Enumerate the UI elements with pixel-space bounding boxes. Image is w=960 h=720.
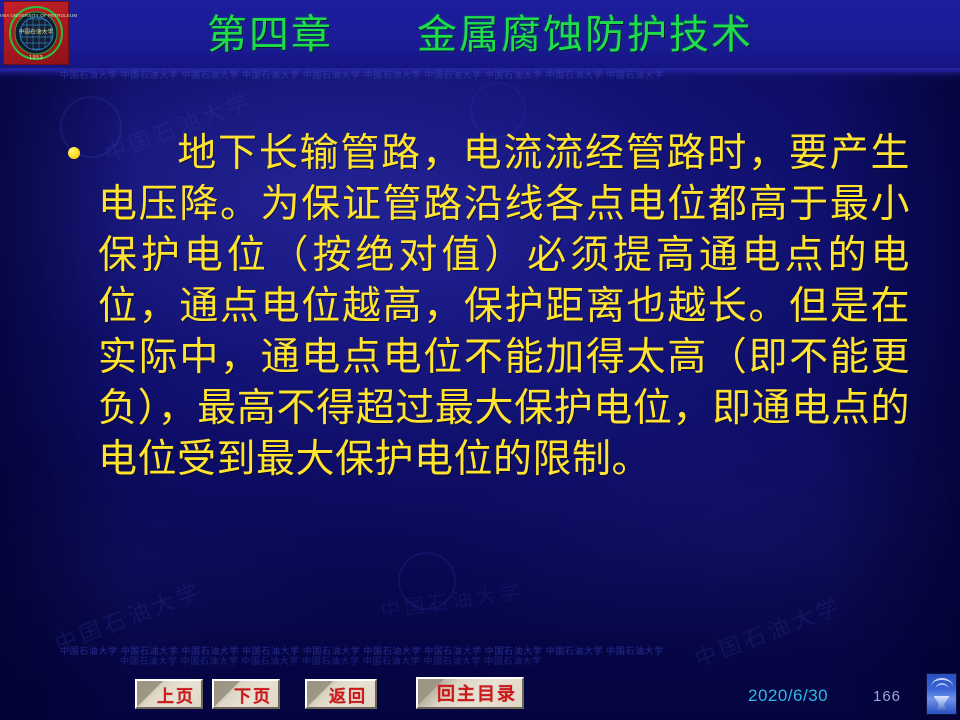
bullet-list-item: 地下长输管路，电流流经管路时，要产生电压降。为保证管路沿线各点电位都高于最小保护… (60, 128, 910, 485)
main-menu-label: 回主目录 (423, 680, 517, 706)
footer-page-number: 166 (873, 688, 901, 705)
fountain-basin (934, 696, 950, 710)
fountain-spray-inner (935, 683, 948, 695)
return-button[interactable]: 返回 (305, 679, 377, 709)
body-paragraph-wrapper: 地下长输管路，电流流经管路时，要产生电压降。为保证管路沿线各点电位都高于最小保护… (98, 128, 910, 485)
next-page-label: 下页 (220, 682, 272, 707)
prev-page-label: 上页 (143, 682, 195, 707)
prev-page-button[interactable]: 上页 (135, 679, 203, 709)
footer-date: 2020/6/30 (748, 686, 828, 706)
slide-title: 第四章 金属腐蚀防护技术 (0, 9, 960, 61)
body-paragraph: 地下长输管路，电流流经管路时，要产生电压降。为保证管路沿线各点电位都高于最小保护… (98, 132, 910, 481)
bullet-dot-icon (68, 147, 80, 159)
main-menu-button[interactable]: 回主目录 (416, 677, 524, 709)
next-page-button[interactable]: 下页 (212, 679, 280, 709)
return-label: 返回 (315, 682, 367, 707)
fountain-icon (926, 673, 957, 715)
watermark-strip-top: 中国石油大学 中国石油大学 中国石油大学 中国石油大学 中国石油大学 中国石油大… (60, 68, 920, 81)
slide-canvas: 中国石油大学 中国石油大学 中国石油大学 中国石油大学 中国石油大学 中国石油大… (0, 0, 960, 720)
slide-body: 地下长输管路，电流流经管路时，要产生电压降。为保证管路沿线各点电位都高于最小保护… (60, 128, 910, 485)
